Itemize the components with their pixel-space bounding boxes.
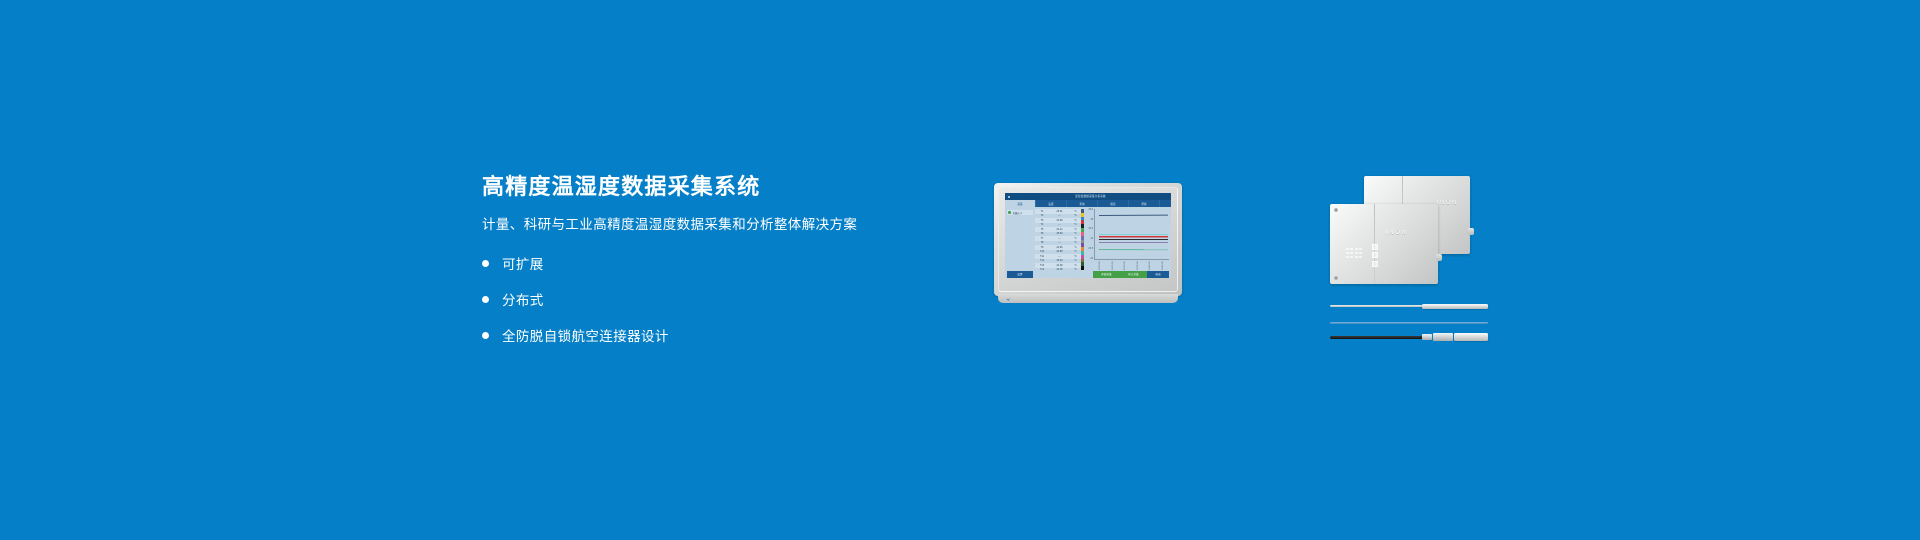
cell-value: 25.40 <box>1049 259 1070 262</box>
trend-chart: 25.52524.52423.523 10:20:0010:25:0010:30… <box>1084 207 1171 270</box>
app-body: 采集仪-1 T125.01℃T2—℃T324.99℃T4—℃T524.12℃T6… <box>1005 207 1171 270</box>
button-label: 停止采集 <box>1128 272 1138 276</box>
chart-plot-area <box>1094 209 1169 260</box>
feature-list: 可扩展 分布式 全防脱自锁航空连接器设计 <box>482 253 912 345</box>
chart-series-line <box>1099 249 1168 250</box>
button-label: 退出 <box>1155 272 1160 276</box>
probe-aviation-connector <box>1330 333 1490 341</box>
cell-unit: ℃ <box>1070 232 1081 235</box>
screw-icon <box>1334 276 1338 280</box>
monitor-screen: 温湿度数据采集分析系统 采集 设置 查询 报表 <box>1005 193 1171 278</box>
cell-unit: ℃ <box>1070 228 1081 231</box>
chart-x-axis: 10:20:0010:25:0010:30:0010:35:0010:40:00… <box>1094 260 1169 270</box>
cell-value: — <box>1049 214 1070 217</box>
enclosure-brand-label: INON <box>1386 230 1407 236</box>
cell-channel: T12 <box>1035 259 1049 262</box>
probe-blue-cable <box>1330 319 1490 327</box>
hero-text-block: 高精度温湿度数据采集系统 计量、科研与工业高精度温湿度数据采集和分析整体解决方案… <box>482 174 912 361</box>
probe-stainless <box>1330 302 1490 310</box>
chart-series-line <box>1099 239 1168 240</box>
button-label: 设置 <box>1017 272 1022 276</box>
enclosure-brand-label: INON <box>1437 200 1458 206</box>
cell-unit: ℃ <box>1070 250 1081 253</box>
cell-unit: ℃ <box>1070 214 1081 217</box>
button-label: 开始采集 <box>1101 272 1111 276</box>
y-axis-tick-label: 24 <box>1090 238 1093 240</box>
enclosure-front: INON <box>1330 204 1438 284</box>
app-window-title: 温湿度数据采集分析系统 <box>1010 193 1171 200</box>
hardware-enclosures: INON INON <box>1330 176 1470 296</box>
cell-value: — <box>1049 237 1070 240</box>
chart-series-line <box>1099 237 1168 238</box>
cell-channel: T4 <box>1035 223 1049 226</box>
mount-lug <box>1436 254 1442 261</box>
cell-unit: ℃ <box>1070 255 1081 258</box>
chart-series-line <box>1099 234 1168 235</box>
cell-channel: T1 <box>1035 210 1049 213</box>
x-axis-tick-label: 10:20:00 <box>1099 260 1101 270</box>
sidebar-item-label: 采集仪-1 <box>1013 211 1022 215</box>
bullet-icon <box>482 332 489 339</box>
cell-channel: T9 <box>1035 246 1049 249</box>
cell-channel: T2 <box>1035 214 1049 217</box>
page-title: 高精度温湿度数据采集系统 <box>482 174 912 200</box>
x-axis-tick-label: 10:45:00 <box>1162 260 1164 270</box>
cell-value: 25.63 <box>1049 232 1070 235</box>
chart-series-line <box>1099 214 1168 215</box>
port-column <box>1372 244 1378 267</box>
tab-label: 查询 <box>1079 202 1084 206</box>
x-axis-tick-label: 10:35:00 <box>1137 260 1139 270</box>
connector-grid <box>1346 248 1362 258</box>
feature-label: 可扩展 <box>502 253 544 273</box>
status-online-icon <box>1008 211 1011 214</box>
cell-unit: ℃ <box>1070 210 1081 213</box>
cell-channel: T11 <box>1035 255 1049 258</box>
cell-value: 24.96 <box>1049 246 1070 249</box>
cell-value: 24.88 <box>1049 250 1070 253</box>
sensor-probes <box>1330 302 1490 350</box>
panel-monitor: 温湿度数据采集分析系统 采集 设置 查询 报表 <box>994 183 1182 296</box>
tab-query[interactable]: 查询 <box>1067 200 1098 207</box>
chart-y-axis: 25.52524.52423.523 <box>1084 209 1093 260</box>
cell-value: 25.01 <box>1049 210 1070 213</box>
cell-unit: ℃ <box>1070 241 1081 244</box>
y-axis-tick-label: 23 <box>1090 258 1093 260</box>
banner-stage: 高精度温湿度数据采集系统 计量、科研与工业高精度温湿度数据采集和分析整体解决方案… <box>0 0 1920 540</box>
tab-label: 采集 <box>1017 202 1022 206</box>
cell-channel: T5 <box>1035 228 1049 231</box>
feature-label: 全防脱自锁航空连接器设计 <box>502 325 669 345</box>
cell-value: — <box>1049 255 1070 258</box>
cell-unit: ℃ <box>1070 246 1081 249</box>
x-axis-tick-label: 10:40:00 <box>1149 260 1151 270</box>
cell-unit: ℃ <box>1070 223 1081 226</box>
tab-settings[interactable]: 设置 <box>1036 200 1067 207</box>
cell-channel: T3 <box>1035 219 1049 222</box>
bullet-icon <box>482 296 489 303</box>
tab-label: 报表 <box>1110 202 1115 206</box>
x-axis-tick-label: 10:25:00 <box>1112 260 1114 270</box>
cell-channel: T10 <box>1035 250 1049 253</box>
screw-icon <box>1334 208 1338 212</box>
cell-value: 24.12 <box>1049 228 1070 231</box>
tab-help[interactable]: 帮助 <box>1129 200 1160 207</box>
tab-label: 设置 <box>1048 202 1053 206</box>
bullet-icon <box>482 260 489 267</box>
x-axis-tick-label: 10:30:00 <box>1124 260 1126 270</box>
cell-channel: T13 <box>1035 264 1049 267</box>
feature-item-3: 全防脱自锁航空连接器设计 <box>482 325 912 345</box>
feature-item-2: 分布式 <box>482 289 912 309</box>
cell-value: 24.28 <box>1049 264 1070 267</box>
cell-unit: ℃ <box>1070 219 1081 222</box>
cell-unit: ℃ <box>1070 259 1081 262</box>
cell-channel: T8 <box>1035 241 1049 244</box>
device-tree-sidebar: 采集仪-1 <box>1005 207 1035 270</box>
settings-button[interactable]: 设置 <box>1007 271 1033 278</box>
tab-acquire[interactable]: 采集 <box>1005 200 1036 207</box>
tab-label: 帮助 <box>1141 202 1146 206</box>
chart-series-line <box>1099 242 1168 243</box>
app-tab-bar: 采集 设置 查询 报表 帮助 <box>1005 200 1171 207</box>
stop-acquisition-button[interactable]: 停止采集 <box>1120 271 1147 278</box>
page-subtitle: 计量、科研与工业高精度温湿度数据采集和分析整体解决方案 <box>482 216 912 235</box>
cell-value: — <box>1049 241 1070 244</box>
cell-value: — <box>1049 223 1070 226</box>
y-axis-tick-label: 24.5 <box>1089 228 1093 230</box>
cell-unit: ℃ <box>1070 237 1081 240</box>
cell-value: 24.99 <box>1049 219 1070 222</box>
y-axis-tick-label: 23.5 <box>1089 248 1093 250</box>
feature-label: 分布式 <box>502 289 544 309</box>
channel-table: T125.01℃T2—℃T324.99℃T4—℃T524.12℃T625.63℃… <box>1035 207 1081 270</box>
start-acquisition-button[interactable]: 开始采集 <box>1093 271 1120 278</box>
sidebar-item-device[interactable]: 采集仪-1 <box>1007 210 1033 215</box>
monitor-bezel: 温湿度数据采集分析系统 采集 设置 查询 报表 <box>994 183 1182 296</box>
app-title-bar: 温湿度数据采集分析系统 <box>1005 193 1171 200</box>
monitor-base <box>998 294 1178 303</box>
feature-item-1: 可扩展 <box>482 253 912 273</box>
cell-channel: T7 <box>1035 237 1049 240</box>
cell-channel: T6 <box>1035 232 1049 235</box>
mount-lug <box>1468 228 1474 235</box>
y-axis-tick-label: 25.5 <box>1089 209 1093 211</box>
y-axis-tick-label: 25 <box>1090 219 1093 221</box>
app-toolbar: 设置 开始采集 停止采集 退出 <box>1005 270 1171 278</box>
exit-button[interactable]: 退出 <box>1147 271 1169 278</box>
tab-report[interactable]: 报表 <box>1098 200 1129 207</box>
cell-unit: ℃ <box>1070 264 1081 267</box>
